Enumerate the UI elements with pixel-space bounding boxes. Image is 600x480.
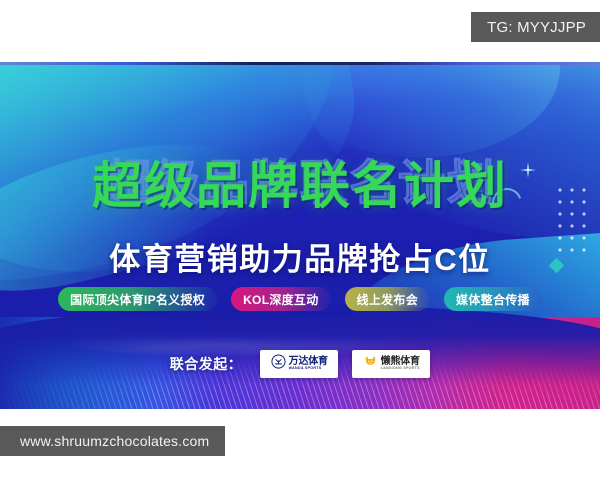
- feature-tag-label: KOL深度互动: [243, 291, 318, 308]
- partner-logo-wanda-sports[interactable]: 万达体育 WANDA SPORTS: [260, 350, 338, 378]
- feature-tag-kol-interaction[interactable]: KOL深度互动: [231, 287, 330, 311]
- partner-name-en: LANXIONG SPORTS: [380, 367, 420, 371]
- banner-content: 超级品牌联名计划 超级品牌联名计划 体育营销助力品牌抢占C位 国际顶尖体育IP名…: [0, 62, 600, 409]
- feature-tag-media-distribution[interactable]: 媒体整合传播: [444, 287, 542, 311]
- wanda-circle-icon: [271, 354, 286, 374]
- partners-label: 联合发起：: [170, 354, 243, 374]
- watermark-top-right: TG: MYYJJPP: [471, 12, 600, 42]
- partner-name-en: WANDA SPORTS: [288, 367, 328, 371]
- lanxiong-bear-icon: [363, 354, 378, 374]
- watermark-bottom-text: www.shruumzchocolates.com: [20, 433, 209, 449]
- partners-row: 联合发起： 万达体育 WANDA SPORTS: [0, 350, 600, 378]
- watermark-bottom-left: www.shruumzchocolates.com: [0, 426, 225, 456]
- feature-tag-ip-authorization[interactable]: 国际顶尖体育IP名义授权: [58, 287, 217, 311]
- feature-tag-label: 线上发布会: [357, 291, 419, 308]
- partner-logo-text: 万达体育 WANDA SPORTS: [289, 357, 328, 371]
- promo-banner: 超级品牌联名计划 超级品牌联名计划 体育营销助力品牌抢占C位 国际顶尖体育IP名…: [0, 62, 600, 409]
- feature-tag-label: 国际顶尖体育IP名义授权: [70, 291, 205, 308]
- feature-tag-list: 国际顶尖体育IP名义授权 KOL深度互动 线上发布会 媒体整合传播: [0, 287, 600, 311]
- headline-title: 超级品牌联名计划: [0, 146, 600, 218]
- partner-logo-text: 懒熊体育 LANXIONG SPORTS: [381, 357, 420, 371]
- watermark-top-text: TG: MYYJJPP: [487, 19, 586, 36]
- feature-tag-label: 媒体整合传播: [456, 291, 530, 308]
- feature-tag-online-launch[interactable]: 线上发布会: [345, 287, 431, 311]
- partner-logo-lanxiong-sports[interactable]: 懒熊体育 LANXIONG SPORTS: [352, 350, 430, 378]
- headline-subtitle: 体育营销助力品牌抢占C位: [0, 234, 600, 279]
- screenshot-root: TG: MYYJJPP 超级品牌联名计划 超级品牌联名计划: [0, 0, 600, 480]
- headline-group: 超级品牌联名计划 超级品牌联名计划: [0, 146, 600, 218]
